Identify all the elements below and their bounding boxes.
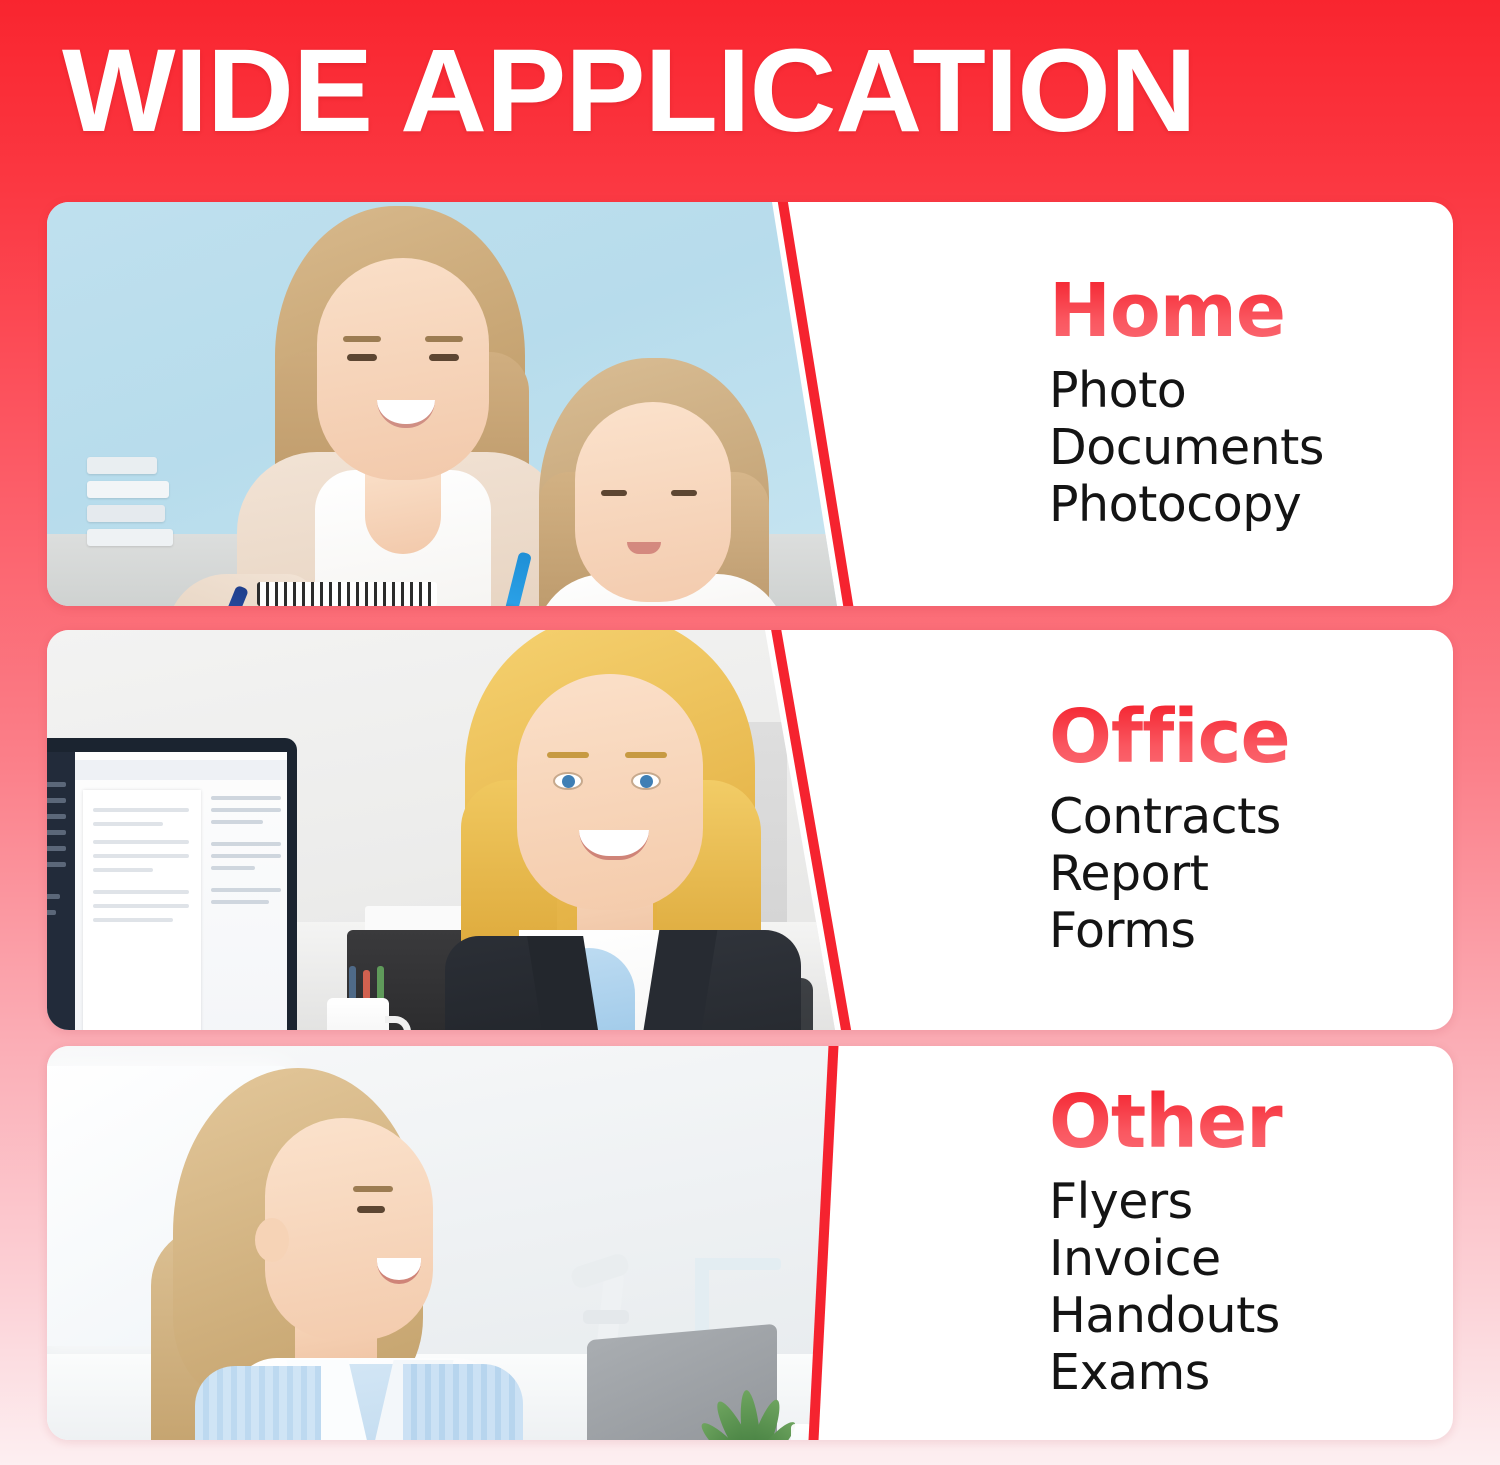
lab-stand-arm — [695, 1258, 781, 1270]
card-item-list-office: Contracts Report Forms — [1049, 789, 1453, 959]
list-item: Photocopy — [1049, 477, 1453, 534]
card-photo-office — [47, 630, 837, 1030]
list-item: Exams — [1049, 1345, 1453, 1402]
card-item-list-home: Photo Documents Photocopy — [1049, 363, 1453, 533]
list-item: Handouts — [1049, 1288, 1453, 1345]
woman-eyebrow — [353, 1186, 393, 1192]
child-face — [575, 402, 731, 602]
adult-eye-right — [429, 354, 459, 361]
page-title: WIDE APPLICATION — [62, 32, 1196, 150]
list-item: Flyers — [1049, 1174, 1453, 1231]
list-item: Forms — [1049, 903, 1453, 960]
card-heading-office: Office — [1049, 700, 1453, 775]
screen-sidebar — [47, 752, 75, 1030]
woman-ear — [255, 1218, 289, 1262]
cardigan-right — [403, 1364, 523, 1440]
mug-icon — [327, 998, 389, 1030]
pen-cup-pens — [347, 966, 395, 1000]
adult-eye-left — [347, 354, 377, 361]
screen-side-text — [211, 790, 283, 970]
card-text-panel-home: Home Photo Documents Photocopy — [1049, 202, 1453, 606]
microscope-stage — [583, 1310, 629, 1324]
scene-lab-laptop — [47, 1046, 837, 1440]
card-item-list-other: Flyers Invoice Handouts Exams — [1049, 1174, 1453, 1401]
cardigan-left — [195, 1366, 321, 1440]
child-eye-right — [671, 490, 697, 496]
infographic-page: WIDE APPLICATION — [0, 0, 1500, 1465]
adult-eyebrow-right — [425, 336, 463, 342]
woman-face — [265, 1118, 433, 1340]
card-text-panel-office: Office Contracts Report Forms — [1049, 630, 1453, 1030]
card-text-panel-other: Other Flyers Invoice Handouts Exams — [1049, 1046, 1453, 1440]
card-heading-home: Home — [1049, 274, 1453, 349]
woman-eyebrow-left — [547, 752, 589, 758]
scene-home-tutoring — [47, 202, 837, 606]
title-banner: WIDE APPLICATION — [0, 0, 1500, 190]
card-photo-home — [47, 202, 837, 606]
list-item: Photo — [1049, 363, 1453, 420]
child-eye-left — [601, 490, 627, 496]
application-card-office[interactable]: Office Contracts Report Forms — [47, 630, 1453, 1030]
adult-face — [317, 258, 489, 480]
card-heading-other: Other — [1049, 1085, 1453, 1160]
list-item: Contracts — [1049, 789, 1453, 846]
notebook-spiral — [257, 582, 437, 606]
woman-eye — [357, 1206, 385, 1213]
list-item: Invoice — [1049, 1231, 1453, 1288]
woman-pupil-left — [562, 775, 575, 788]
screen-document — [83, 790, 201, 1030]
scene-office-desk — [47, 630, 837, 1030]
woman-eyebrow-right — [625, 752, 667, 758]
adult-eyebrow-left — [343, 336, 381, 342]
woman-pupil-right — [640, 775, 653, 788]
woman-face — [517, 674, 703, 910]
list-item: Report — [1049, 846, 1453, 903]
application-card-home[interactable]: Home Photo Documents Photocopy — [47, 202, 1453, 606]
adult-neckline — [365, 468, 441, 554]
application-card-other[interactable]: Other Flyers Invoice Handouts Exams — [47, 1046, 1453, 1440]
list-item: Documents — [1049, 420, 1453, 477]
book-stack-icon — [87, 426, 173, 546]
card-photo-other — [47, 1046, 837, 1440]
screen-toolbar — [75, 760, 287, 780]
